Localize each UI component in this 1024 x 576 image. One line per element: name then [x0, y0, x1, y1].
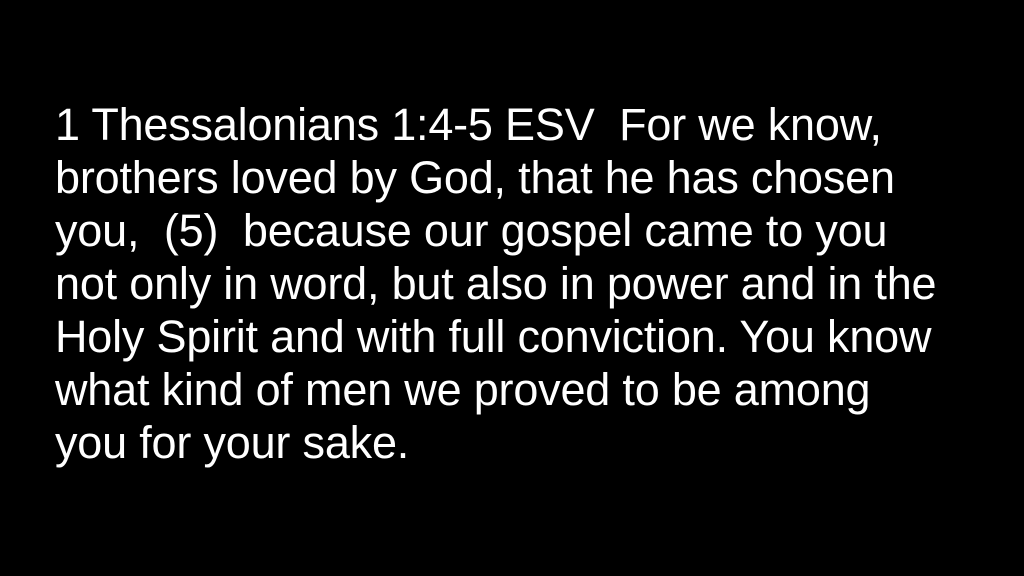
scripture-slide: 1 Thessalonians 1:4-5 ESV For we know, b… [0, 0, 1024, 576]
verse-line: brothers loved by God, that he has chose… [55, 151, 980, 204]
verse-line: 1 Thessalonians 1:4-5 ESV For we know, [55, 98, 980, 151]
verse-line: Holy Spirit and with full conviction. Yo… [55, 310, 980, 363]
verse-line: what kind of men we proved to be among [55, 363, 980, 416]
verse-line: not only in word, but also in power and … [55, 257, 980, 310]
verse-line: you for your sake. [55, 416, 980, 469]
verse-line: you, (5) because our gospel came to you [55, 204, 980, 257]
verse-text-block: 1 Thessalonians 1:4-5 ESV For we know, b… [55, 98, 980, 469]
